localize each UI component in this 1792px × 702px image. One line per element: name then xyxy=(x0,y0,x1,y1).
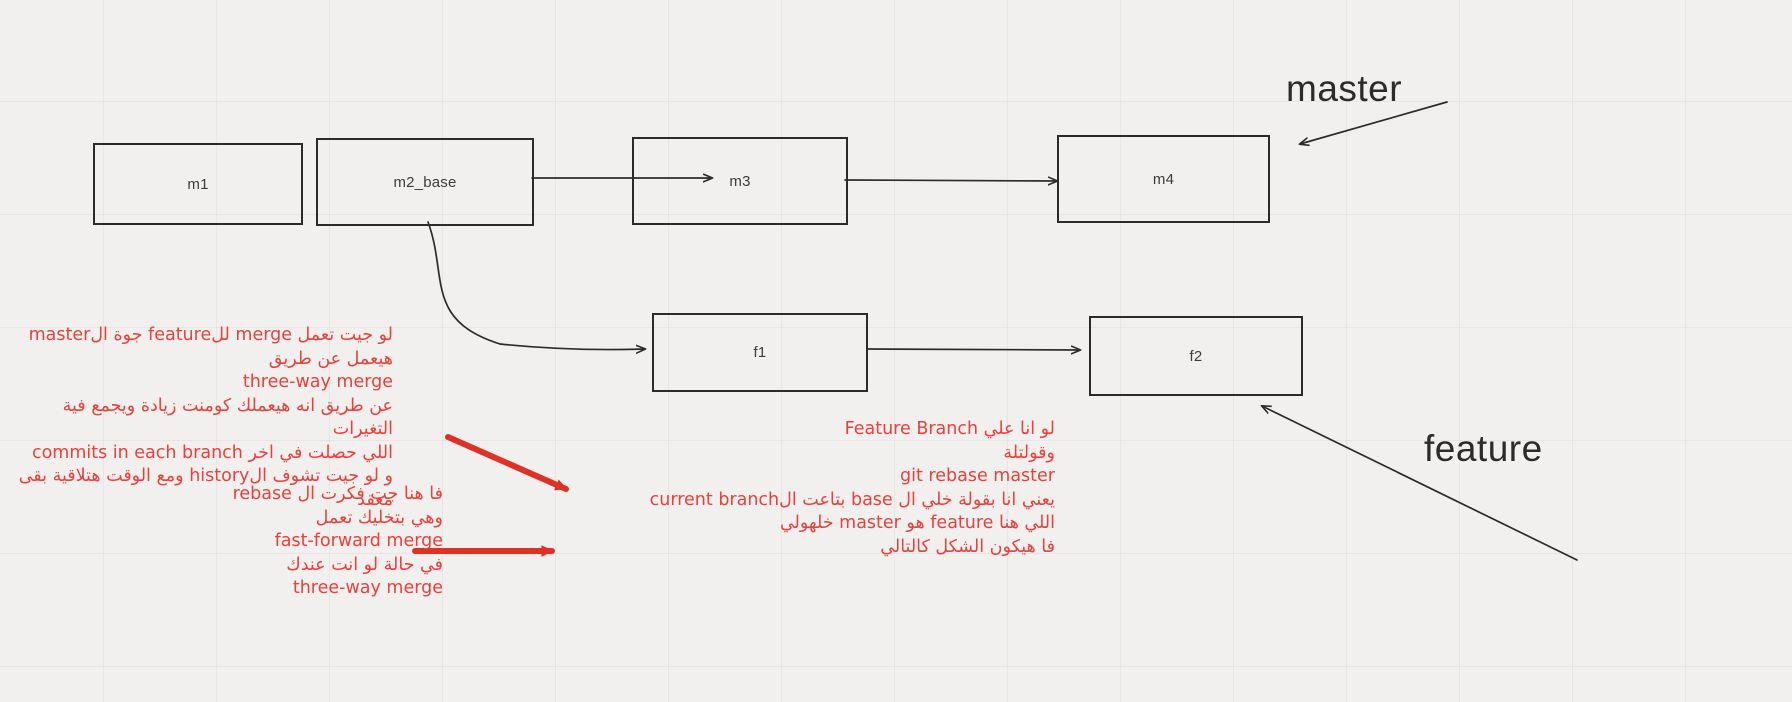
red-arrow-upper xyxy=(448,437,566,489)
annotation-rebase-note: فا هنا جت فكرت ال rebase وهي بتخليك تعمل… xyxy=(198,483,443,601)
commit-label: m1 xyxy=(187,176,208,193)
commit-box-m4[interactable]: m4 xyxy=(1057,135,1270,223)
arrow-f1-to-f2 xyxy=(868,349,1080,350)
commit-label: m3 xyxy=(729,173,750,190)
arrow-branch-m2base-to-f1 xyxy=(428,222,645,349)
commit-box-f2[interactable]: f2 xyxy=(1089,316,1303,396)
commit-box-m2-base[interactable]: m2_base xyxy=(316,138,534,226)
commit-label: f2 xyxy=(1190,348,1203,365)
commit-label: m4 xyxy=(1153,171,1174,188)
commit-box-f1[interactable]: f1 xyxy=(652,313,868,392)
branch-label-feature: feature xyxy=(1424,428,1543,470)
commit-label: f1 xyxy=(754,344,767,361)
arrow-m3-to-m4 xyxy=(845,180,1057,181)
commit-box-m3[interactable]: m3 xyxy=(632,137,848,225)
commit-label: m2_base xyxy=(393,174,456,191)
commit-box-m1[interactable]: m1 xyxy=(93,143,303,225)
branch-label-master: master xyxy=(1286,68,1402,110)
annotation-command-note: لو انا علي Feature Branch وقولتلة git re… xyxy=(600,418,1055,559)
